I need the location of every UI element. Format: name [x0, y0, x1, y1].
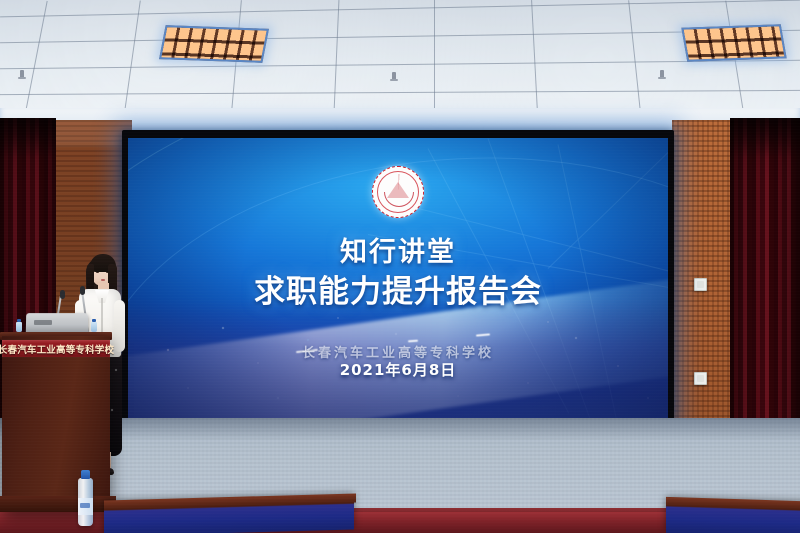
recessed-louver-light [681, 24, 786, 61]
screen-title-line-1: 知行讲堂 [128, 230, 668, 269]
fire-sprinkler [20, 70, 24, 78]
podium-banner-text: 长春汽车工业高等专科学校 [0, 342, 114, 356]
fire-sprinkler [660, 70, 664, 78]
bottle-label [78, 498, 93, 515]
laptop-brand-logo [34, 320, 52, 325]
speaker-mouth [101, 279, 105, 281]
wall-switch[interactable] [694, 372, 707, 385]
led-display-screen[interactable]: 知行讲堂 求职能力提升报告会 长春汽车工业高等专科学校 2021年6月8日 [128, 138, 668, 418]
lecture-hall-photo: 知行讲堂 求职能力提升报告会 长春汽车工业高等专科学校 2021年6月8日 [0, 0, 800, 533]
water-bottle[interactable] [16, 322, 22, 332]
ceiling-grid-lines [0, 0, 800, 112]
screen-date: 2021年6月8日 [128, 359, 668, 380]
suspended-grid-ceiling [0, 0, 800, 112]
laptop[interactable] [26, 313, 88, 333]
bottle-cap [81, 470, 90, 479]
wall-switch[interactable] [694, 278, 707, 291]
water-bottle[interactable] [91, 322, 97, 332]
podium-base [0, 496, 116, 512]
microphone [80, 286, 85, 295]
screen-title-line-2: 求职能力提升报告会 [128, 266, 668, 311]
fire-sprinkler [392, 72, 396, 80]
school-crest-emblem [372, 166, 424, 218]
recessed-louver-light [159, 25, 269, 63]
speaker-arm [114, 300, 125, 352]
podium-name-banner: 长春汽车工业高等专科学校 [2, 340, 110, 357]
podium [2, 336, 110, 512]
microphone [60, 290, 65, 299]
